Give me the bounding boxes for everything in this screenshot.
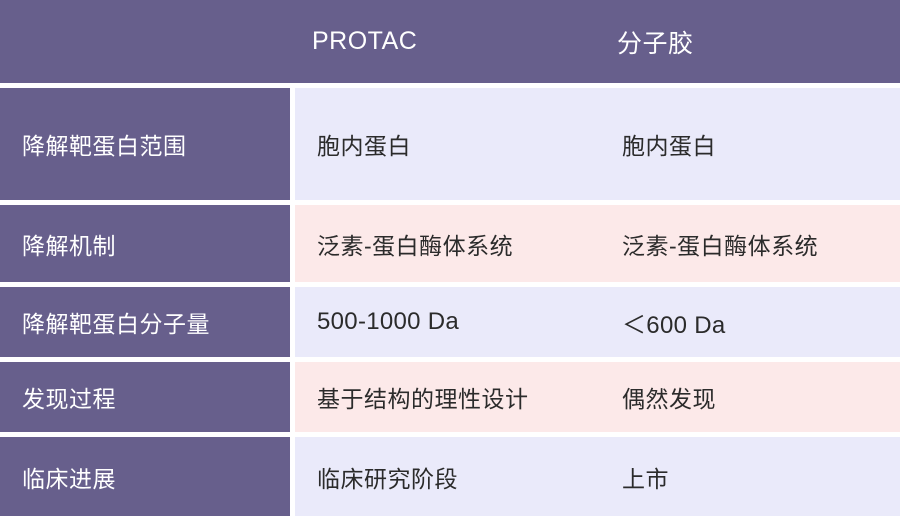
table-row: 降解靶蛋白范围 胞内蛋白 胞内蛋白 bbox=[0, 88, 900, 200]
protac-vs-molecular-glue-comparison-table: PROTAC 分子胶 降解靶蛋白范围 胞内蛋白 胞内蛋白 降解机制 泛素-蛋白酶… bbox=[0, 0, 900, 511]
row-label-target-molecular-weight: 降解靶蛋白分子量 bbox=[0, 287, 290, 357]
cell-molecular-glue-r0: 胞内蛋白 bbox=[600, 127, 900, 161]
cell-protac-r4: 临床研究阶段 bbox=[295, 460, 600, 494]
column-header-molecular-glue: 分子胶 bbox=[595, 24, 900, 60]
row-label-degradation-mechanism: 降解机制 bbox=[0, 205, 290, 282]
cell-molecular-glue-r3: 偶然发现 bbox=[600, 380, 900, 414]
cell-protac-r0: 胞内蛋白 bbox=[295, 127, 600, 161]
table-row: 降解机制 泛素-蛋白酶体系统 泛素-蛋白酶体系统 bbox=[0, 205, 900, 282]
cell-molecular-glue-r2: ＜600 Da bbox=[600, 305, 900, 340]
table-body: 降解靶蛋白范围 胞内蛋白 胞内蛋白 降解机制 泛素-蛋白酶体系统 泛素-蛋白酶体… bbox=[0, 88, 900, 516]
cell-protac-r2: 500-1000 Da bbox=[295, 308, 600, 336]
column-header-protac: PROTAC bbox=[290, 27, 595, 56]
row-label-degradation-target-scope: 降解靶蛋白范围 bbox=[0, 88, 290, 200]
row-values: 临床研究阶段 上市 bbox=[295, 437, 900, 516]
row-values: 基于结构的理性设计 偶然发现 bbox=[295, 362, 900, 432]
row-values: 泛素-蛋白酶体系统 泛素-蛋白酶体系统 bbox=[295, 205, 900, 282]
row-label-clinical-progress: 临床进展 bbox=[0, 437, 290, 516]
row-values: 500-1000 Da ＜600 Da bbox=[295, 287, 900, 357]
table-row: 发现过程 基于结构的理性设计 偶然发现 bbox=[0, 362, 900, 432]
cell-molecular-glue-r1: 泛素-蛋白酶体系统 bbox=[600, 227, 900, 261]
table-row: 降解靶蛋白分子量 500-1000 Da ＜600 Da bbox=[0, 287, 900, 357]
cell-protac-r1: 泛素-蛋白酶体系统 bbox=[295, 227, 600, 261]
row-values: 胞内蛋白 胞内蛋白 bbox=[295, 88, 900, 200]
row-label-discovery-process: 发现过程 bbox=[0, 362, 290, 432]
table-row: 临床进展 临床研究阶段 上市 bbox=[0, 437, 900, 516]
cell-protac-r3: 基于结构的理性设计 bbox=[295, 380, 600, 414]
table-header-row: PROTAC 分子胶 bbox=[0, 0, 900, 83]
cell-molecular-glue-r4: 上市 bbox=[600, 460, 900, 494]
